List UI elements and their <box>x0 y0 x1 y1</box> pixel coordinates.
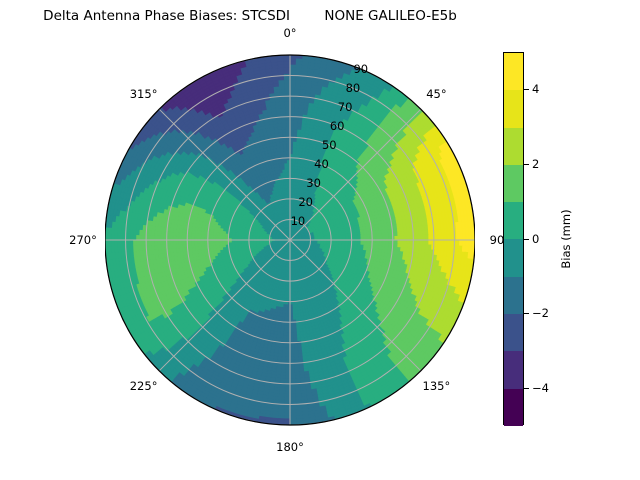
colorbar-band <box>504 128 523 165</box>
radial-tick-70: 70 <box>338 100 353 114</box>
radial-tick-20: 20 <box>298 195 313 209</box>
colorbar-band <box>504 314 523 351</box>
radial-tick-60: 60 <box>330 119 345 133</box>
colorbar-gradient <box>503 52 524 425</box>
colorbar-tick-mark <box>524 89 529 90</box>
colorbar: 420−2−4 Bias (mm) <box>503 52 613 426</box>
radial-tick-90: 90 <box>353 62 368 76</box>
angular-tick-315: 315° <box>130 87 158 101</box>
polar-contour-plot <box>105 50 475 430</box>
radial-tick-30: 30 <box>306 176 321 190</box>
colorbar-band <box>504 90 523 127</box>
polar-axes: 0°45°90135°180°225°270°315° 102030405060… <box>105 50 475 430</box>
colorbar-label: Bias (mm) <box>559 209 573 268</box>
colorbar-band <box>504 277 523 314</box>
radial-tick-50: 50 <box>322 138 337 152</box>
colorbar-band <box>504 351 523 388</box>
colorbar-tick-mark <box>524 313 529 314</box>
colorbar-band <box>504 53 523 90</box>
colorbar-tick-mark <box>524 164 529 165</box>
angular-tick-45: 45° <box>426 87 446 101</box>
radial-tick-40: 40 <box>314 157 329 171</box>
polar-gridlines <box>105 55 475 425</box>
angular-tick-0: 0° <box>283 26 296 40</box>
colorbar-tick-mark <box>524 388 529 389</box>
colorbar-band <box>504 389 523 426</box>
colorbar-band <box>504 239 523 276</box>
angular-tick-135: 135° <box>423 379 451 393</box>
radial-tick-80: 80 <box>346 81 361 95</box>
colorbar-tick-label: −4 <box>532 381 549 395</box>
angular-tick-225: 225° <box>130 379 158 393</box>
figure-canvas: Delta Antenna Phase Biases: STCSDI NONE … <box>0 0 640 480</box>
colorbar-tick-label: −2 <box>532 306 549 320</box>
angular-tick-270: 270° <box>69 233 97 247</box>
colorbar-tick-label: 4 <box>532 82 539 96</box>
angular-tick-180: 180° <box>276 440 304 454</box>
colorbar-tick-mark <box>524 239 529 240</box>
colorbar-band <box>504 165 523 202</box>
colorbar-tick-label: 0 <box>532 232 539 246</box>
radial-tick-10: 10 <box>291 214 306 228</box>
chart-title: Delta Antenna Phase Biases: STCSDI NONE … <box>0 8 500 24</box>
colorbar-tick-label: 2 <box>532 157 539 171</box>
colorbar-band <box>504 202 523 239</box>
